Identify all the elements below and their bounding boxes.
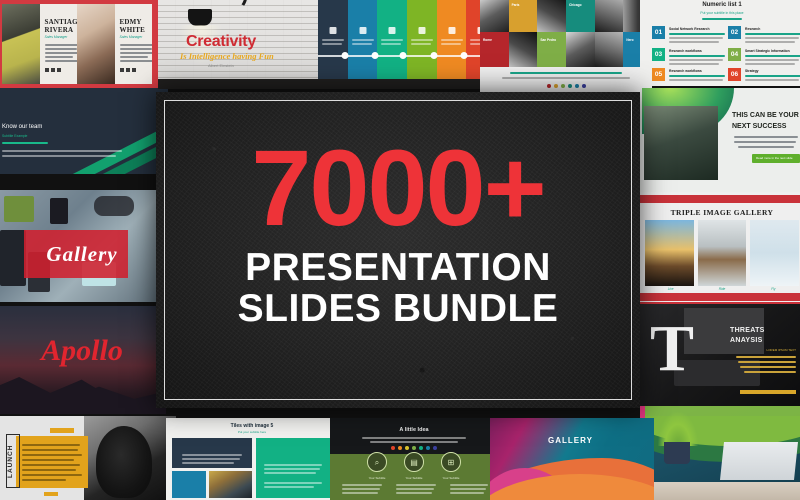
poster-canvas: SANTIAGO RIVERA Sales Manager EDMY WHITE…: [0, 0, 800, 500]
slide-thumbnail-little-idea: A little Idea ⌕ ▤ ⊞ Your Subtitle Your S…: [330, 418, 498, 500]
column-1: [318, 0, 348, 89]
gallery-title: Gallery: [0, 242, 166, 267]
column-3: [377, 0, 407, 89]
slide-thumbnail-plant-laptop: [640, 406, 800, 500]
team-photo-right: [77, 4, 115, 84]
threats-title: THREATSANAYSIS: [730, 326, 796, 346]
gallery-image-3: [750, 220, 799, 286]
threats-subtitle: LOREM IPSUM TEXT: [767, 348, 796, 352]
launch-title: LAUNCH: [7, 438, 19, 484]
slide-thumbnail-next-success: THIS CAN BE YOUR NEXT SUCCESS Read more …: [640, 88, 800, 192]
numeric-item-4: 04 Smart Strategic Information: [728, 48, 800, 68]
numeric-badge-3: 03: [652, 48, 665, 61]
numeric-label-5: Research workflows: [669, 69, 702, 73]
hero-line-2: PRESENTATION: [156, 247, 640, 289]
tile-navy: [172, 438, 252, 468]
numeric-item-1: 01 Social Network Research: [652, 26, 726, 46]
slide-thumbnail-creativity: Creativity Is Intelligence having Fun Al…: [158, 0, 334, 89]
team-name-2: EDMY WHITE: [120, 18, 153, 34]
hero-panel: 7000+ PRESENTATION SLIDES BUNDLE: [156, 92, 640, 408]
numeric-label-4: Smart Strategic Information: [745, 49, 790, 53]
tile-teal: [256, 438, 332, 498]
idea-caption-3: Your Subtitle: [426, 476, 476, 480]
tiles-subtitle: Put your subtitle here: [166, 430, 338, 434]
mosaic-footer: [480, 67, 652, 93]
gallery-caption-1: Live: [645, 287, 696, 291]
slide-thumbnail-colored-columns: [318, 0, 496, 89]
lamp-shade-icon: [188, 9, 212, 26]
know-team-title: Know our team: [2, 124, 42, 130]
team-role-1: Sales Manager: [45, 35, 68, 39]
waves-gallery-title: GALLERY: [548, 436, 593, 445]
numeric-label-1: Social Network Research: [669, 27, 710, 31]
gear-icon: [448, 27, 455, 34]
success-photo: [644, 106, 718, 180]
slide-thumbnail-gallery-flatlay: Gallery: [0, 190, 166, 302]
slide-thumbnail-triple-gallery: TRIPLE IMAGE GALLERY Live Ride Fly: [640, 192, 800, 304]
numeric-item-6: 06 Strategy: [728, 68, 800, 86]
color-dots[interactable]: [480, 84, 652, 88]
mosaic-label-3: Rome: [483, 38, 492, 42]
success-headline: THIS CAN BE YOUR NEXT SUCCESS: [732, 110, 800, 132]
search-icon: ⌕: [367, 452, 387, 472]
slide-thumbnail-threats-analysis: T THREATSANAYSIS LOREM IPSUM TEXT: [640, 302, 800, 408]
numeric-label-2: Research: [745, 27, 760, 31]
social-icons-1[interactable]: [45, 68, 61, 72]
idea-color-dots[interactable]: [330, 446, 498, 450]
hero-line-3: SLIDES BUNDLE: [156, 288, 640, 330]
threats-letter: T: [650, 316, 694, 382]
read-more-button[interactable]: Read more in the next slide: [752, 154, 800, 163]
team-photo-left: [2, 4, 40, 84]
column-2: [348, 0, 378, 89]
slide-thumbnail-waves-gallery: GALLERY: [490, 418, 654, 500]
slide-thumbnail-team: SANTIAGO RIVERA Sales Manager EDMY WHITE…: [0, 0, 158, 90]
gallery-image-1: [645, 220, 694, 286]
triple-gallery-title: TRIPLE IMAGE GALLERY: [640, 208, 800, 217]
briefcase-icon: [329, 27, 336, 34]
column-5: [437, 0, 467, 89]
creativity-attribution: Albert Einstein: [208, 63, 234, 68]
plant-leaves: [658, 412, 698, 446]
gallery-caption-2: Ride: [696, 287, 747, 291]
numeric-badge-1: 01: [652, 26, 665, 39]
mosaic-label-5: Nero: [626, 38, 633, 42]
team-bio-two: EDMY WHITE Sales Manager: [115, 4, 153, 84]
slide-thumbnail-numeric-list: Numeric list 1 Put your subtitle in this…: [640, 0, 800, 86]
social-icons-2[interactable]: [120, 68, 136, 72]
numeric-item-5: 05 Research workflows: [652, 68, 726, 86]
threats-accent-bar: [740, 390, 796, 394]
numeric-label-3: Research workflows: [669, 49, 702, 53]
tiles-title: Tiles with image 5: [166, 423, 338, 429]
team-role-2: Sales Manager: [120, 35, 143, 39]
slide-thumbnail-launch: LAUNCH: [0, 416, 176, 500]
numeric-badge-5: 05: [652, 68, 665, 81]
numeric-item-2: 02 Research: [728, 26, 800, 46]
tile-blue: [172, 471, 206, 498]
idea-title: A little Idea: [330, 427, 498, 433]
team-bio-one: SANTIAGO RIVERA Sales Manager: [40, 4, 78, 84]
numeric-list-title: Numeric list 1: [640, 2, 800, 8]
numeric-badge-2: 02: [728, 26, 741, 39]
mosaic-label-4: San Pedro: [540, 38, 556, 42]
calendar-icon: ▤: [404, 452, 424, 472]
launch-text-block: [16, 436, 88, 488]
numeric-list-subtitle: Put your subtitle in this place: [640, 11, 800, 15]
numeric-item-3: 03 Research workflows: [652, 48, 726, 68]
numeric-badge-6: 06: [728, 68, 741, 81]
tile-photo: [209, 471, 252, 498]
column-4: [407, 0, 437, 89]
laptop: [720, 442, 798, 480]
hero-headline-number: 7000+: [156, 134, 640, 242]
slide-thumbnail-apollo: Apollo: [0, 306, 166, 414]
wrench-icon: [418, 27, 425, 34]
mosaic-label-1: Paris: [512, 3, 520, 7]
creativity-line2: Is Intelligence having Fun: [180, 51, 274, 61]
slide-thumbnail-city-mosaic: Paris Chicago Rome San Pedro Nero: [480, 0, 652, 93]
know-team-subtitle: Subtitle Example: [2, 134, 27, 138]
creativity-line1: Creativity: [186, 33, 256, 51]
monitor-icon: [359, 27, 366, 34]
team-name-1: SANTIAGO RIVERA: [45, 18, 78, 34]
lightbulb-icon: [389, 27, 396, 34]
numeric-badge-4: 04: [728, 48, 741, 61]
slide-thumbnail-tiles-image5: Tiles with image 5 Put your subtitle her…: [166, 418, 338, 500]
numeric-label-6: Strategy: [745, 69, 759, 73]
hierarchy-icon: ⊞: [441, 452, 461, 472]
mosaic-label-2: Chicago: [569, 3, 582, 7]
plant-pot: [664, 442, 690, 464]
slide-thumbnail-know-our-team: Know our team Subtitle Example: [0, 88, 168, 174]
gallery-image-2: [698, 220, 747, 286]
apollo-title: Apollo: [0, 334, 166, 368]
gallery-caption-3: Fly: [748, 287, 799, 291]
